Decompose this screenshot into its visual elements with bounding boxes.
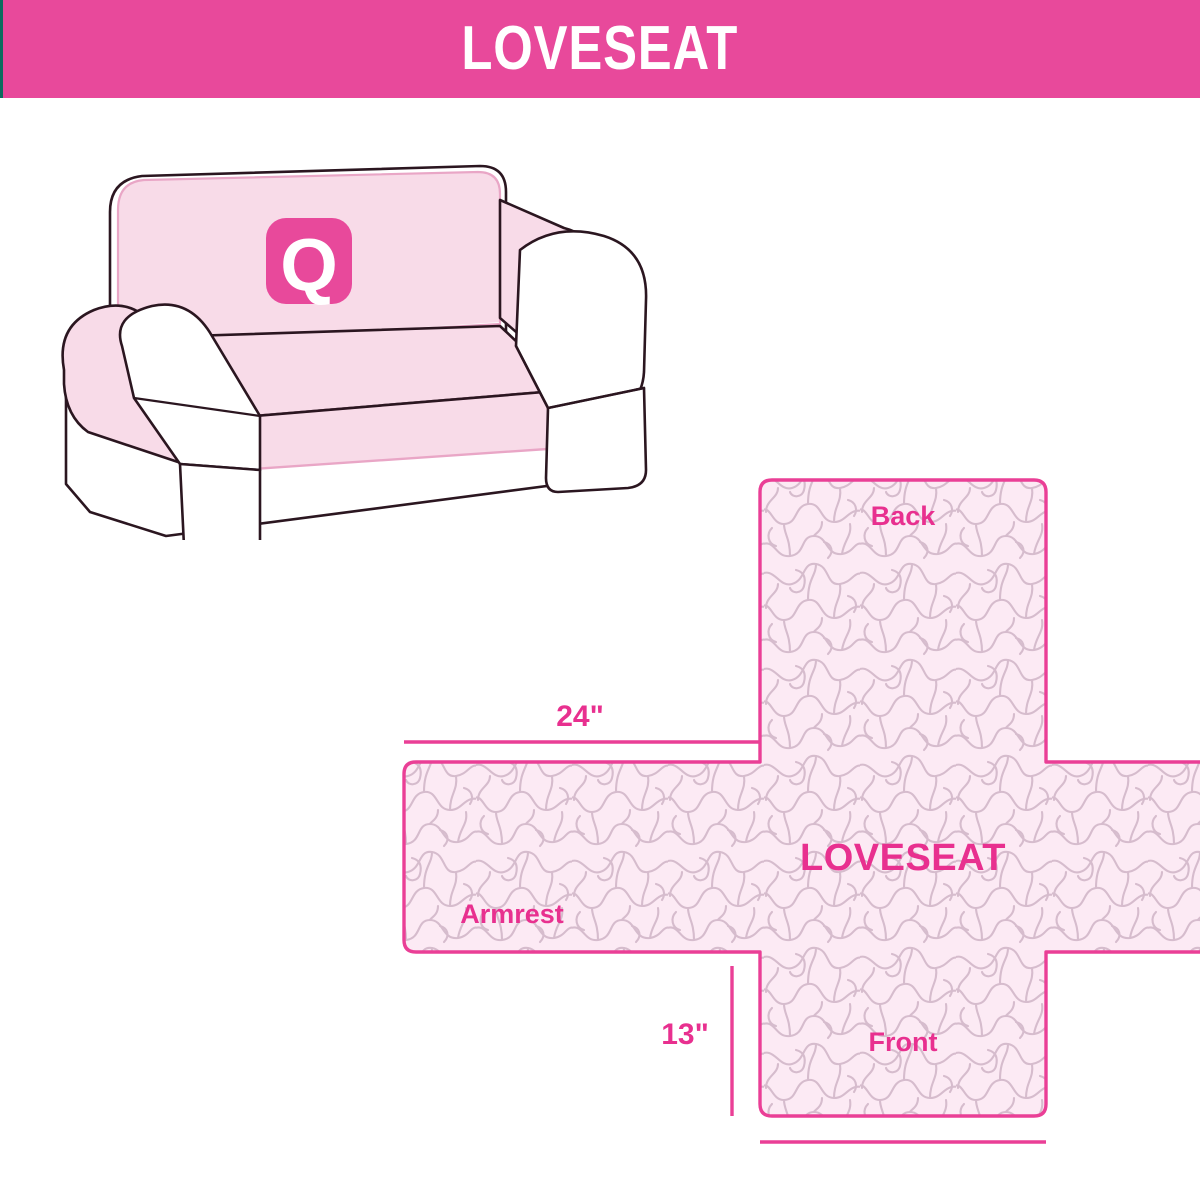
cover-pattern-diagram: Back Armrest LOVESEAT Armrest Front 40" … [380, 466, 1200, 1146]
panel-label-armrest-left: Armrest [460, 899, 564, 929]
panel-label-center: LOVESEAT [800, 837, 1006, 879]
panel-label-front: Front [869, 1027, 938, 1057]
logo-letter-q: Q [280, 224, 338, 307]
dimension-value-armrest-width: 24" [556, 700, 604, 733]
header-banner: LOVESEAT [0, 0, 1200, 98]
page-title: LOVESEAT [462, 18, 739, 80]
dimension-value-front-height: 13" [661, 1018, 709, 1051]
cover-cross-shape [404, 478, 1200, 1116]
brand-logo-badge: Q [266, 218, 352, 307]
panel-label-back: Back [871, 501, 937, 531]
sofa-arm-left-front [180, 464, 260, 540]
cover-outline [404, 480, 1200, 1116]
header-edge-strip [0, 0, 3, 98]
